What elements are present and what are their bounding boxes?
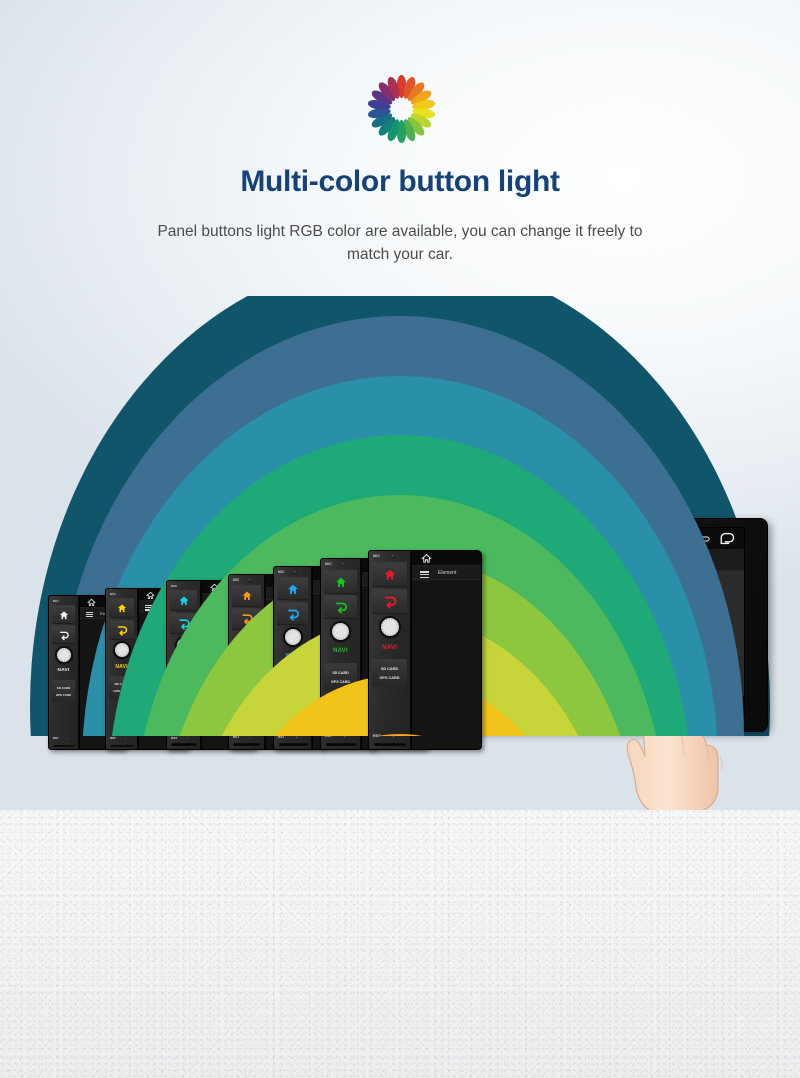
- back-arrow-icon: [333, 601, 348, 614]
- mic-label: MIC: [53, 599, 59, 603]
- back-button[interactable]: [109, 620, 134, 640]
- back-button[interactable]: [52, 625, 75, 644]
- gps-card-label: GPS CARD: [372, 674, 407, 683]
- back-button[interactable]: [324, 595, 357, 619]
- home-button[interactable]: [170, 590, 197, 611]
- unit-red: MICNAVISD CARDGPS CARDRSTElement: [368, 550, 482, 750]
- home-button[interactable]: [324, 570, 357, 594]
- rst-label: RST: [171, 736, 177, 740]
- hamburger-icon[interactable]: [420, 570, 429, 579]
- sd-card-label: SD CARD: [52, 685, 75, 692]
- languages-section: Support languages, up to 70 national lan…: [0, 810, 800, 1078]
- home-icon[interactable]: [87, 598, 96, 607]
- reset-hole-icon[interactable]: [124, 738, 127, 741]
- home-icon: [58, 610, 69, 621]
- reset-hole-icon[interactable]: [186, 737, 189, 740]
- page-subtitle: Panel buttons light RGB color are availa…: [150, 220, 650, 267]
- mic-label: MIC: [110, 592, 116, 596]
- color-wheel-icon: [366, 74, 436, 144]
- home-button[interactable]: [109, 598, 134, 618]
- back-arrow-icon: [382, 595, 398, 609]
- card-slot-group: SD CARDGPS CARD: [372, 659, 407, 687]
- home-button[interactable]: [52, 605, 75, 624]
- volume-knob[interactable]: [114, 642, 130, 658]
- disc-slot: [110, 745, 134, 747]
- mic-hole-icon: [248, 578, 252, 582]
- mic-hole-icon: [342, 562, 346, 566]
- mic-label: MIC: [171, 584, 177, 588]
- unit-left-panel: MICNAVISD CARDGPS CARDRST: [49, 596, 79, 749]
- rst-label: RST: [110, 736, 116, 740]
- mic-label: MIC: [373, 554, 380, 558]
- volume-knob[interactable]: [331, 622, 350, 641]
- disc-slot: [279, 743, 308, 746]
- mic-label: MIC: [233, 578, 239, 582]
- home-button[interactable]: [277, 577, 308, 600]
- mic-label: MIC: [278, 570, 285, 574]
- navi-label: NAVI: [369, 644, 410, 651]
- reset-hole-icon[interactable]: [249, 737, 253, 741]
- volume-knob[interactable]: [56, 647, 72, 663]
- disc-slot: [374, 743, 406, 746]
- volume-knob[interactable]: [380, 617, 400, 637]
- back-arrow-icon: [115, 625, 128, 636]
- mic-label: MIC: [325, 562, 332, 566]
- gps-card-label: GPS CARD: [52, 692, 75, 699]
- back-arrow-icon: [285, 608, 300, 621]
- paper-texture: [0, 810, 800, 1078]
- home-icon: [178, 595, 190, 607]
- mic-hole-icon: [65, 599, 68, 602]
- head-unit-screen: Element: [411, 551, 481, 749]
- back-button[interactable]: [372, 589, 407, 614]
- mic-hole-icon: [294, 570, 298, 574]
- page-title: Multi-color button light: [0, 165, 800, 199]
- reset-hole-icon[interactable]: [295, 736, 299, 740]
- back-button[interactable]: [277, 602, 308, 625]
- reset-hole-icon[interactable]: [66, 738, 69, 741]
- mic-hole-icon: [123, 592, 126, 595]
- unit-left-panel: MICNAVISD CARDGPS CARDRST: [369, 551, 411, 749]
- breadcrumb: Element: [438, 570, 456, 576]
- back-icon[interactable]: [718, 531, 736, 547]
- rst-label: RST: [53, 736, 59, 740]
- card-slot-group: SD CARDGPS CARD: [52, 680, 75, 702]
- sd-card-label: SD CARD: [372, 665, 407, 674]
- home-icon: [116, 603, 127, 614]
- disc-slot: [326, 743, 356, 746]
- home-icon: [286, 583, 299, 596]
- home-icon: [383, 568, 397, 582]
- rst-label: RST: [373, 734, 380, 738]
- disc-slot: [171, 743, 197, 746]
- mic-hole-icon: [391, 554, 395, 558]
- home-icon[interactable]: [421, 553, 432, 564]
- unit-chassis: MICNAVISD CARDGPS CARDRSTElement: [368, 550, 482, 750]
- hamburger-icon[interactable]: [86, 611, 93, 618]
- back-arrow-icon: [58, 630, 70, 641]
- home-icon: [241, 590, 253, 602]
- home-icon: [334, 576, 347, 589]
- home-icon[interactable]: [146, 591, 155, 600]
- android-status-bar: [412, 551, 481, 566]
- home-button[interactable]: [372, 562, 407, 587]
- disc-slot: [53, 745, 75, 747]
- mic-hole-icon: [185, 584, 188, 587]
- volume-knob[interactable]: [284, 628, 302, 646]
- hero-section: Multi-color button light Panel buttons l…: [0, 0, 800, 810]
- navi-label: NAVI: [49, 668, 78, 673]
- sd-card-label: SD CARD: [324, 669, 357, 678]
- app-sub-bar: Element: [412, 566, 481, 580]
- navi-label: NAVI: [321, 648, 360, 654]
- home-button[interactable]: [232, 585, 261, 607]
- disc-slot: [233, 743, 260, 746]
